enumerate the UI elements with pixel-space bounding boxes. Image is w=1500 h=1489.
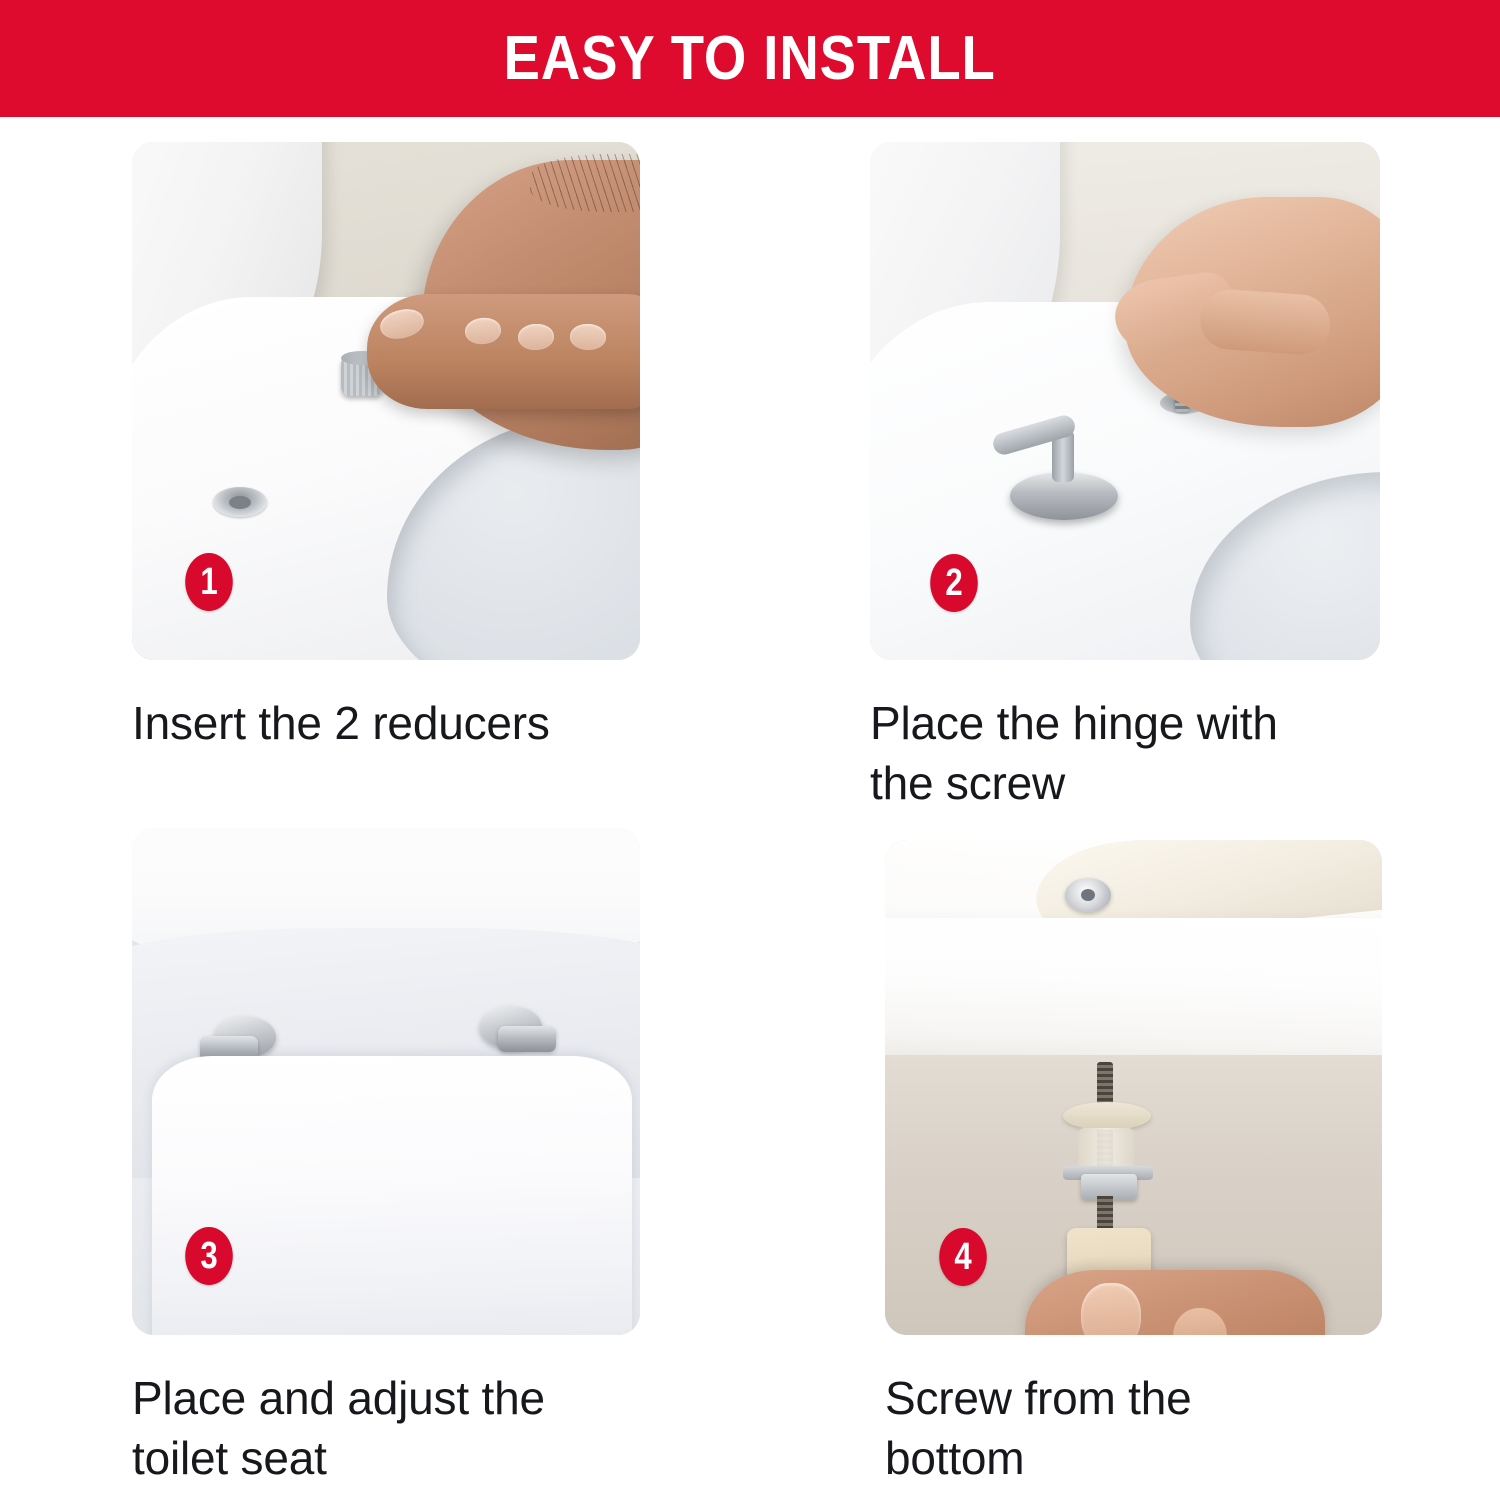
hinge-arm bbox=[498, 1026, 556, 1052]
install-steps-grid: 1 Insert the 2 reducers 2 Place the hing… bbox=[0, 117, 1500, 1463]
hinge-pin-icon bbox=[1065, 878, 1111, 912]
page-title: EASY TO INSTALL bbox=[504, 28, 996, 90]
installed-hinge-icon bbox=[1010, 472, 1118, 520]
step-4-caption: Screw from the bottom bbox=[885, 1369, 1305, 1489]
step-2-caption: Place the hinge with the screw bbox=[870, 694, 1300, 814]
toilet-seat bbox=[152, 1056, 632, 1335]
step-4-photo: 4 bbox=[885, 840, 1382, 1335]
toilet-ceramic-body bbox=[885, 918, 1382, 1063]
step-3-caption: Place and adjust the toilet seat bbox=[132, 1369, 562, 1489]
step-card-1: 1 Insert the 2 reducers bbox=[132, 142, 640, 754]
step-number-badge-3: 3 bbox=[185, 1227, 233, 1285]
header-banner: EASY TO INSTALL bbox=[0, 0, 1500, 117]
step-2-photo: 2 bbox=[870, 142, 1380, 660]
step-1-caption: Insert the 2 reducers bbox=[132, 694, 562, 754]
step-number-badge-1: 1 bbox=[185, 553, 233, 611]
fingers-graphic bbox=[1198, 288, 1332, 357]
rubber-washer-icon bbox=[1063, 1102, 1151, 1130]
hinge-right-icon bbox=[480, 1006, 556, 1058]
thumbnail-icon bbox=[1081, 1283, 1141, 1335]
step-1-photo: 1 bbox=[132, 142, 640, 660]
hand-hair-texture bbox=[530, 154, 640, 212]
hinge-hole-icon bbox=[213, 487, 267, 517]
fingernail-icon bbox=[570, 323, 607, 350]
step-card-2: 2 Place the hinge with the screw bbox=[870, 142, 1380, 814]
step-card-3: 3 Place and adjust the toilet seat bbox=[132, 828, 640, 1489]
step-card-4: 4 Screw from the bottom bbox=[885, 840, 1382, 1489]
step-3-photo: 3 bbox=[132, 828, 640, 1335]
step-number-badge-4: 4 bbox=[939, 1228, 987, 1286]
step-number-badge-2: 2 bbox=[930, 554, 978, 612]
